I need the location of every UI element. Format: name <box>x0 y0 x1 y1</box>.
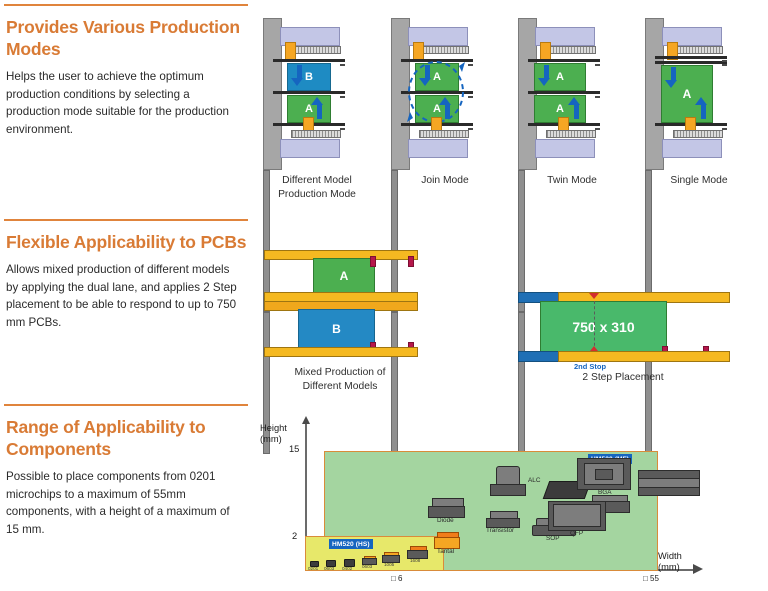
figure-caption: Mixed Production of Different Models <box>260 366 420 394</box>
figure-mixed-production: A B Mixed Production of Different Models <box>264 238 434 373</box>
section-title: Provides Various Production Modes <box>6 16 252 60</box>
machine-diagram: B A <box>263 18 371 168</box>
board-b: B <box>298 309 375 349</box>
figure-caption: Different Model Production Mode <box>251 174 383 202</box>
section-body: Possible to place components from 0201 m… <box>6 468 244 538</box>
rail-bar-1 <box>655 56 727 59</box>
figure-caption: Join Mode <box>379 174 511 188</box>
machine-diagram: A A <box>391 18 499 168</box>
rail-bar-1b <box>655 61 727 64</box>
lane-bottom <box>264 347 418 357</box>
component-label: ALC <box>528 477 540 484</box>
section-title: Range of Applicability to Components <box>6 416 252 460</box>
component-label: Tantal <box>437 548 454 555</box>
x-axis-label-line-1: Width <box>658 551 682 561</box>
tape-bottom <box>419 130 469 138</box>
caption-line-2: Different Models <box>303 381 378 392</box>
x-tick-6: □ 6 <box>391 574 403 583</box>
y-axis-arrow-icon <box>301 416 315 428</box>
figure-caption: Twin Mode <box>506 174 638 188</box>
pcb-upper: B <box>287 63 331 91</box>
y-axis-label-line-1: Height <box>260 423 287 433</box>
tape-top <box>546 46 596 54</box>
caption-line-1: Join Mode <box>421 175 469 186</box>
stopper-2 <box>408 256 414 267</box>
feeder-bottom <box>408 139 468 158</box>
tape-top <box>673 46 723 54</box>
x-axis-arrow-icon <box>693 564 707 576</box>
component-label: BGA <box>598 489 612 496</box>
component-label: Diode <box>437 517 454 524</box>
x-axis-label-line-2: (mm) <box>658 562 680 572</box>
x-axis-label: Width (mm) <box>658 551 682 573</box>
machine-diagram: A A <box>518 18 626 168</box>
section-rule <box>4 219 248 221</box>
head-top <box>285 42 296 60</box>
board-a: A <box>313 258 375 294</box>
caption-line-2: Production Mode <box>278 189 356 200</box>
caption-line-1: Single Mode <box>670 175 727 186</box>
component-label: SOP <box>546 535 560 542</box>
section-body: Helps the user to achieve the optimum pr… <box>6 68 244 138</box>
figure-caption: Single Mode <box>633 174 765 188</box>
section-component-range: Range of Applicability to Components Pos… <box>0 404 252 539</box>
component-label: 0603 <box>324 566 334 571</box>
component-label: 1608 <box>410 558 420 563</box>
tape-bottom <box>673 130 723 138</box>
stop-dash-line <box>594 301 595 351</box>
pcb-upper: A <box>534 63 586 91</box>
machine-diagram: A <box>645 18 753 168</box>
component-label: 0402 <box>342 566 352 571</box>
tape-bottom <box>546 130 596 138</box>
rail-bar-2 <box>273 91 345 94</box>
component-label: 0201 <box>308 566 318 571</box>
second-stop-label: 2nd Stop <box>574 362 606 371</box>
tape-bottom <box>291 130 341 138</box>
lane-bottom <box>558 351 730 362</box>
component-label: QFP <box>570 530 583 537</box>
component-range-chart: Height (mm) 15 2 Width (mm) □ 6 □ 55 HM5… <box>258 418 768 591</box>
section-title: Flexible Applicability to PCBs <box>6 231 252 253</box>
section-production-modes: Provides Various Production Modes Helps … <box>0 4 252 139</box>
caption-line-1: 2 Step Placement <box>582 372 663 383</box>
figure-2-step-placement: 750 x 310 2nd Stop 2 Step Placement <box>518 288 738 383</box>
caption-line-1: Twin Mode <box>547 175 597 186</box>
section-body: Allows mixed production of different mod… <box>6 261 244 331</box>
x-tick-55: □ 55 <box>643 574 659 583</box>
lane-blue-bottom <box>518 351 562 362</box>
section-rule <box>4 4 248 6</box>
rail-bar-2 <box>528 91 600 94</box>
rail-bar-1 <box>528 59 600 62</box>
y-axis-label-line-2: (mm) <box>260 434 282 444</box>
feeder-bottom <box>535 139 595 158</box>
y-tick-15: 15 <box>289 444 299 454</box>
stopper-1 <box>370 256 376 267</box>
feeder-bottom <box>280 139 340 158</box>
feature-sheet: Provides Various Production Modes Helps … <box>0 0 768 591</box>
component-label: 0603 <box>362 564 372 569</box>
section-rule <box>4 404 248 406</box>
y-axis-label: Height (mm) <box>260 423 287 445</box>
component-label: Transistor <box>486 527 514 534</box>
stop-marker-top-icon <box>589 293 599 299</box>
head-top <box>540 42 551 60</box>
component-label: 1005 <box>384 562 394 567</box>
figure-caption: 2 Step Placement <box>543 371 703 385</box>
tape-top <box>291 46 341 54</box>
y-tick-2: 2 <box>292 531 297 541</box>
caption-line-1: Mixed Production of <box>294 367 385 378</box>
caption-line-1: Different Model <box>282 175 352 186</box>
board-large: 750 x 310 <box>540 301 667 353</box>
section-flexible-pcb: Flexible Applicability to PCBs Allows mi… <box>0 219 252 331</box>
rail-bar-1 <box>273 59 345 62</box>
feeder-bottom <box>662 139 722 158</box>
badge-hm520-hs: HM520 (HS) <box>329 539 373 549</box>
